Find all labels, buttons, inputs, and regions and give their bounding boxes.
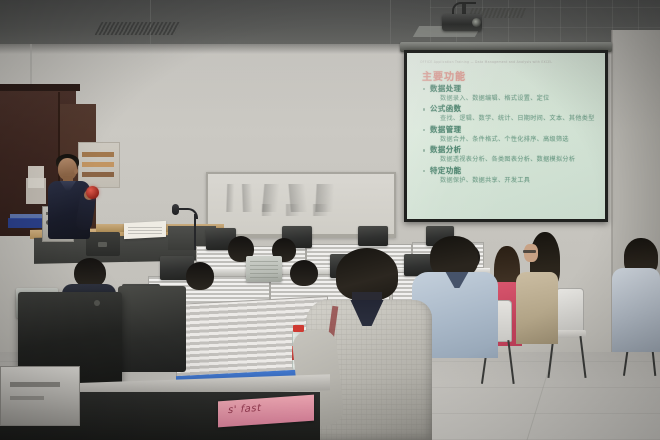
slide-section-detail: 数据保护、数据共享、开发工具 (421, 176, 601, 185)
projector-lens-icon (472, 18, 481, 27)
classroom-photo: OFFICE Application Training — Data Manag… (0, 0, 660, 440)
slide-body: 数据处理 数据录入、数据编辑、格式设置、定位 公式函数 查找、逻辑、数学、统计、… (421, 84, 601, 186)
slide-section-heading: 特定功能 (421, 166, 601, 176)
slide-section-detail: 数据合并、条件格式、个性化排序、高级筛选 (421, 135, 601, 144)
pc-drive-slot (10, 382, 60, 387)
slide-section: 特定功能 数据保护、数据共享、开发工具 (421, 166, 601, 185)
monitor-vent-dot (94, 300, 100, 306)
slide-section-heading: 数据管理 (421, 125, 601, 135)
attendee-torso-beige-coat (516, 272, 558, 344)
slide-section-detail: 数据录入、数据编辑、格式设置、定位 (421, 94, 601, 103)
slide-section: 数据分析 数据透视表分析、各类图表分析、数据模拟分析 (421, 145, 601, 164)
wall-art-stripe (82, 162, 114, 167)
slide-section-detail: 查找、逻辑、数学、统计、日期时间、文本、其他类型 (421, 114, 601, 123)
microphone-stand (194, 214, 196, 250)
attendee-head (186, 262, 214, 290)
ceiling-vent (95, 22, 182, 35)
desk-label-text: s' fast (228, 403, 261, 416)
glasses-icon (523, 250, 536, 253)
cabinet-top-trim (0, 84, 80, 91)
whiteboard-writing-second-line (258, 204, 338, 216)
attendee-torso-blue-shirt (612, 268, 660, 352)
presenter-ear (74, 168, 78, 174)
slide-section: 数据处理 数据录入、数据编辑、格式设置、定位 (421, 84, 601, 103)
pc-drive-slot-secondary (10, 396, 44, 400)
slide-header: OFFICE Application Training — Data Manag… (420, 60, 552, 64)
slide-section-heading: 数据分析 (421, 145, 601, 155)
monitor (358, 226, 388, 246)
ceiling-seam-right (390, 0, 391, 48)
slide-section-detail: 数据透视表分析、各类图表分析、数据模拟分析 (421, 155, 601, 164)
projection-screen: OFFICE Application Training — Data Manag… (407, 53, 605, 219)
foreground-monitor-second (118, 286, 186, 372)
wall-art-stripe (82, 152, 114, 157)
presenter-held-object (86, 186, 99, 199)
slide-section: 公式函数 查找、逻辑、数学、统计、日期时间、文本、其他类型 (421, 104, 601, 123)
slide-section-heading: 数据处理 (421, 84, 601, 94)
microphone-icon (172, 204, 179, 215)
monitor-logo (98, 242, 107, 247)
slide-title: 主要功能 (422, 68, 466, 83)
notice-paper (28, 166, 44, 188)
monitor-content (250, 260, 278, 278)
desk-paper-text (128, 226, 162, 234)
attendee-head (290, 260, 318, 286)
wall-art-stripe (82, 172, 114, 177)
chair-back (556, 288, 584, 334)
slide-section-heading: 公式函数 (421, 104, 601, 114)
slide-section: 数据管理 数据合并、条件格式、个性化排序、高级筛选 (421, 125, 601, 144)
attendee-face (524, 244, 538, 262)
